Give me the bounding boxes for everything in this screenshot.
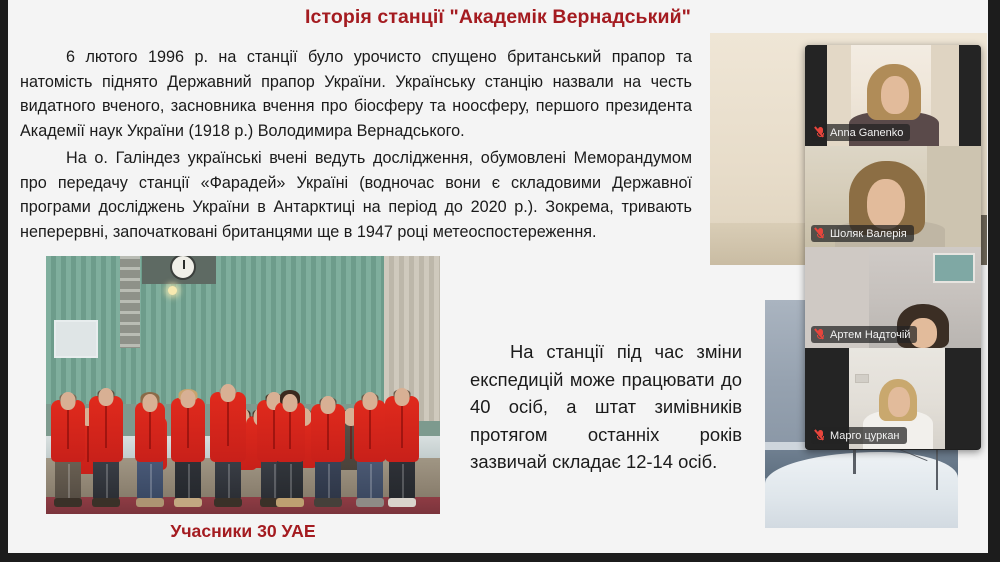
video-tile[interactable]: Артем Надточій bbox=[805, 247, 981, 348]
window-frame-right bbox=[988, 0, 1000, 562]
participant-name-tag: Anna Ganenko bbox=[811, 124, 910, 141]
participant-name-tag: Марго цуркан bbox=[811, 427, 907, 444]
page-title: Історія станції "Академік Вернадський" bbox=[8, 6, 988, 29]
video-tile[interactable]: Марго цуркан bbox=[805, 348, 981, 449]
station-lamp bbox=[168, 286, 177, 295]
screen: Історія станції "Академік Вернадський" 6… bbox=[0, 0, 1000, 562]
participant-name-tag: Шоляк Валерія bbox=[811, 225, 914, 242]
paragraph-history: 6 лютого 1996 р. на станції було урочист… bbox=[20, 45, 692, 143]
participant-name: Шоляк Валерія bbox=[830, 228, 907, 240]
station-window bbox=[54, 320, 98, 358]
mic-muted-icon bbox=[816, 329, 825, 341]
photo-caption: Учасники 30 УАЕ bbox=[46, 521, 440, 542]
participant-name-tag: Артем Надточій bbox=[811, 326, 917, 343]
marker-post bbox=[936, 446, 938, 490]
video-call-panel[interactable]: Anna Ganenko Шоляк Валерія bbox=[805, 45, 981, 450]
window-frame-bottom bbox=[0, 553, 1000, 562]
paragraph-research: На о. Галіндез українські вчені ведуть д… bbox=[20, 146, 692, 244]
participant-name: Anna Ganenko bbox=[830, 127, 903, 139]
paragraph-staffing: На станції під час зміни експедицій може… bbox=[470, 338, 742, 476]
video-tile[interactable]: Шоляк Валерія bbox=[805, 146, 981, 247]
mic-muted-icon bbox=[816, 430, 825, 442]
window-frame-left bbox=[0, 0, 8, 562]
snow-foreground bbox=[765, 452, 958, 528]
group-photo-expedition-team bbox=[46, 256, 440, 514]
station-wall bbox=[46, 256, 440, 404]
mic-muted-icon bbox=[816, 228, 825, 240]
participant-name: Марго цуркан bbox=[830, 430, 900, 442]
station-ladder bbox=[120, 256, 140, 348]
mic-muted-icon bbox=[816, 127, 825, 139]
video-tile[interactable]: Anna Ganenko bbox=[805, 45, 981, 146]
participant-name: Артем Надточій bbox=[830, 329, 910, 341]
